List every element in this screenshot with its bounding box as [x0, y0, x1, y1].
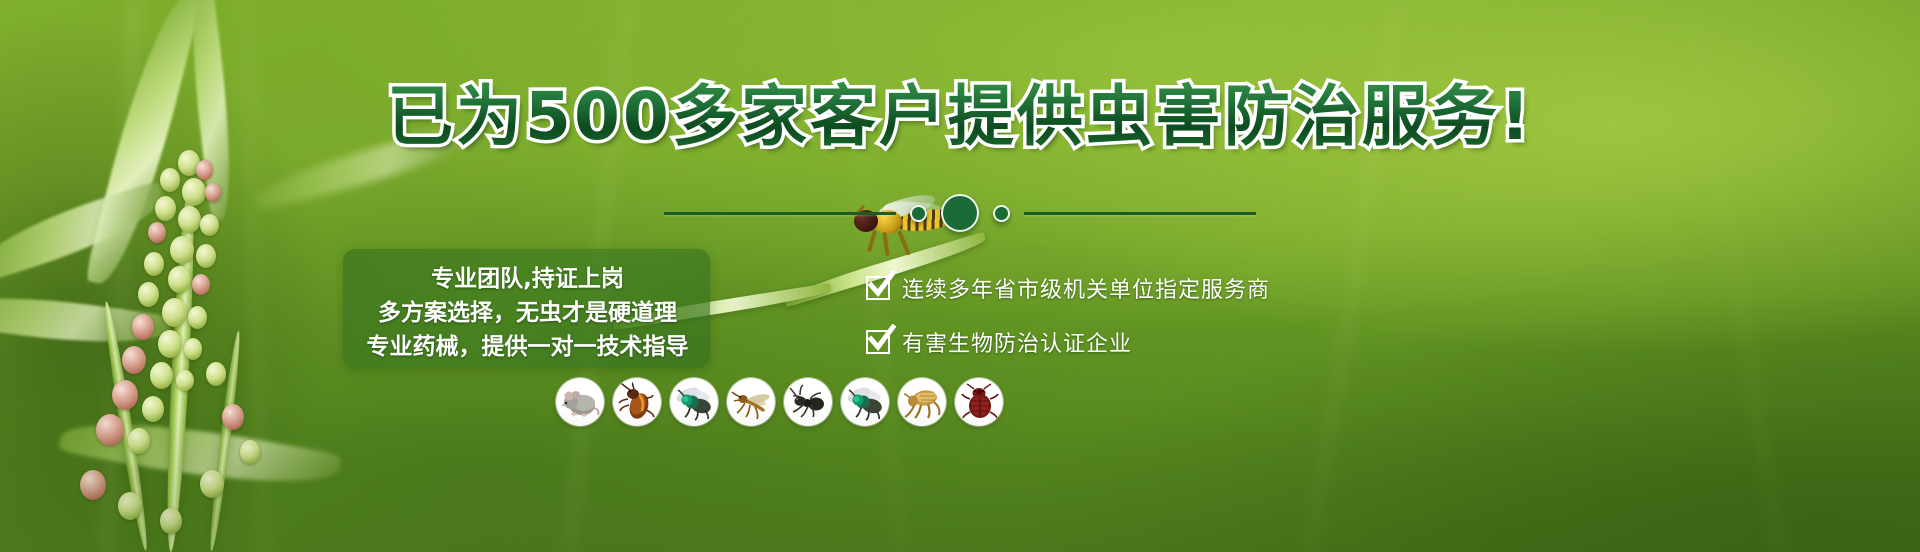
divider-dot-small-right [993, 205, 1010, 222]
checkbox-checked-icon [866, 330, 890, 354]
ant-icon[interactable] [784, 378, 832, 426]
divider-dot-large [941, 194, 979, 232]
cockroach-icon[interactable] [613, 378, 661, 426]
pest-icon-row [556, 378, 1016, 426]
mouse-icon[interactable] [556, 378, 604, 426]
bedbug-icon[interactable] [955, 378, 1003, 426]
feature-list: 连续多年省市级机关单位指定服务商 有害生物防治认证企业 [866, 272, 1270, 358]
mosquito-icon[interactable] [727, 378, 775, 426]
divider-dot-small-left [910, 205, 927, 222]
fly-icon[interactable] [841, 378, 889, 426]
divider-line-left [664, 212, 896, 215]
flea-icon[interactable] [898, 378, 946, 426]
slogan-panel: 专业团队,持证上岗 多方案选择，无虫才是硬道理 专业药械，提供一对一技术指导 [343, 249, 710, 368]
feature-label: 连续多年省市级机关单位指定服务商 [902, 272, 1270, 304]
feature-item: 连续多年省市级机关单位指定服务商 [866, 272, 1270, 304]
slogan-line-1: 专业团队,持证上岗 [359, 259, 696, 293]
decorative-divider [0, 193, 1920, 233]
feature-label: 有害生物防治认证企业 [902, 326, 1132, 358]
feature-item: 有害生物防治认证企业 [866, 326, 1270, 358]
slogan-line-3: 专业药械，提供一对一技术指导 [359, 327, 696, 361]
divider-line-right [1024, 212, 1256, 215]
headline: 已为500多家客户提供虫害防治服务! 已为500多家客户提供虫害防治服务! [0, 72, 1920, 162]
pest-control-banner: 已为500多家客户提供虫害防治服务! 已为500多家客户提供虫害防治服务! 专业… [0, 0, 1920, 552]
slogan-line-2: 多方案选择，无虫才是硬道理 [359, 293, 696, 327]
headline-text: 已为500多家客户提供虫害防治服务! [0, 72, 1920, 162]
checkbox-checked-icon [866, 276, 890, 300]
fly-icon[interactable] [670, 378, 718, 426]
